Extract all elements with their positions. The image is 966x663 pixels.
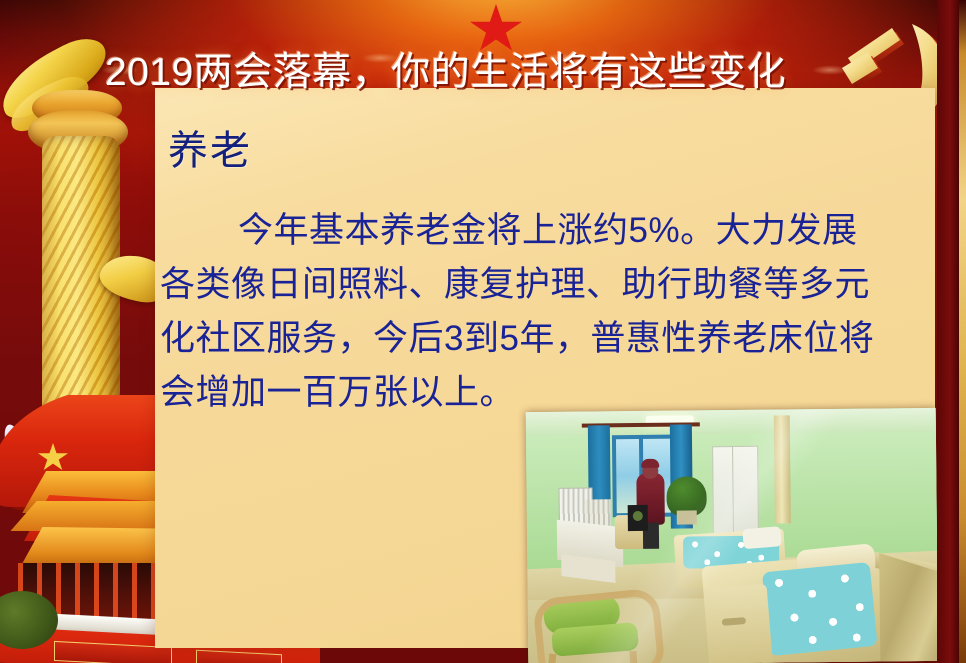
nursing-home-photo <box>526 408 939 663</box>
body-line-1: 今年基本养老金将上涨约5%。大力发展 <box>160 204 920 258</box>
section-heading: 养老 <box>168 125 252 177</box>
right-gold-strip <box>959 0 966 663</box>
slide-title: 2019两会落幕，你的生活将有这些变化 <box>105 48 825 98</box>
right-edge-band <box>937 0 959 663</box>
body-paragraph: 今年基本养老金将上涨约5%。大力发展 各类像日间照料、康复护理、助行助餐等多元 … <box>160 204 920 420</box>
body-line-2: 各类像日间照料、康复护理、助行助餐等多元 <box>160 258 920 312</box>
body-line-3: 化社区服务，今后3到5年，普惠性养老床位将 <box>160 312 920 366</box>
presentation-slide: 2019两会落幕，你的生活将有这些变化 养老 今年基本养老金将上涨约5%。大力发… <box>0 0 966 663</box>
